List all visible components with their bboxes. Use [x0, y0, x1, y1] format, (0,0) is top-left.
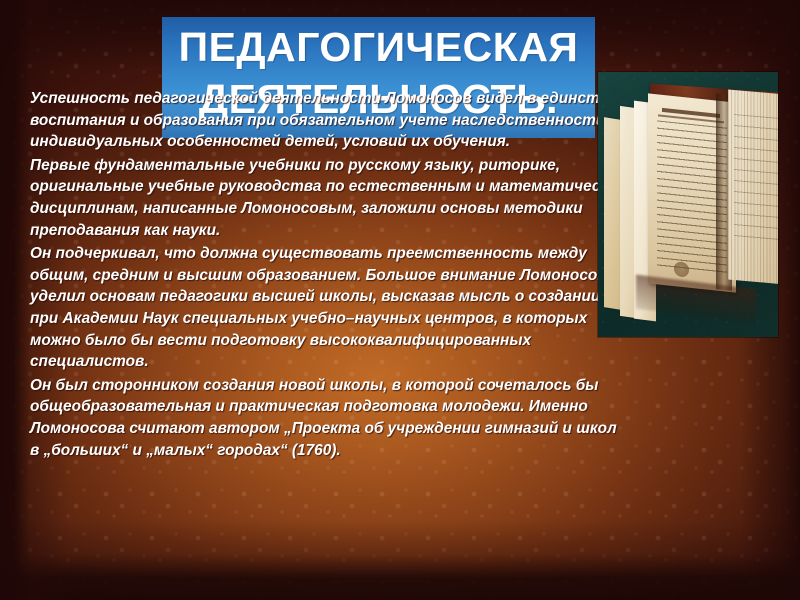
- manuscript-seal: [674, 261, 689, 278]
- body-paragraph-4: Он был сторонником создания новой школы,…: [30, 375, 630, 461]
- book-page-stack: [728, 89, 778, 284]
- book-margin-notes: [734, 114, 778, 248]
- slide-body-text: Успешность педагогической деятельности Л…: [30, 88, 630, 463]
- old-manuscript-book-photo: [598, 72, 778, 337]
- body-paragraph-3: Он подчеркивал, что должна существовать …: [30, 243, 630, 373]
- presentation-slide: ПЕДАГОГИЧЕСКАЯ ДЕЯТЕЛЬНОСТЬ. ПЕДАГОГИЧЕС…: [0, 0, 800, 600]
- body-paragraph-2: Первые фундаментальные учебники по русск…: [30, 155, 630, 241]
- body-paragraph-1: Успешность педагогической деятельности Л…: [30, 88, 630, 153]
